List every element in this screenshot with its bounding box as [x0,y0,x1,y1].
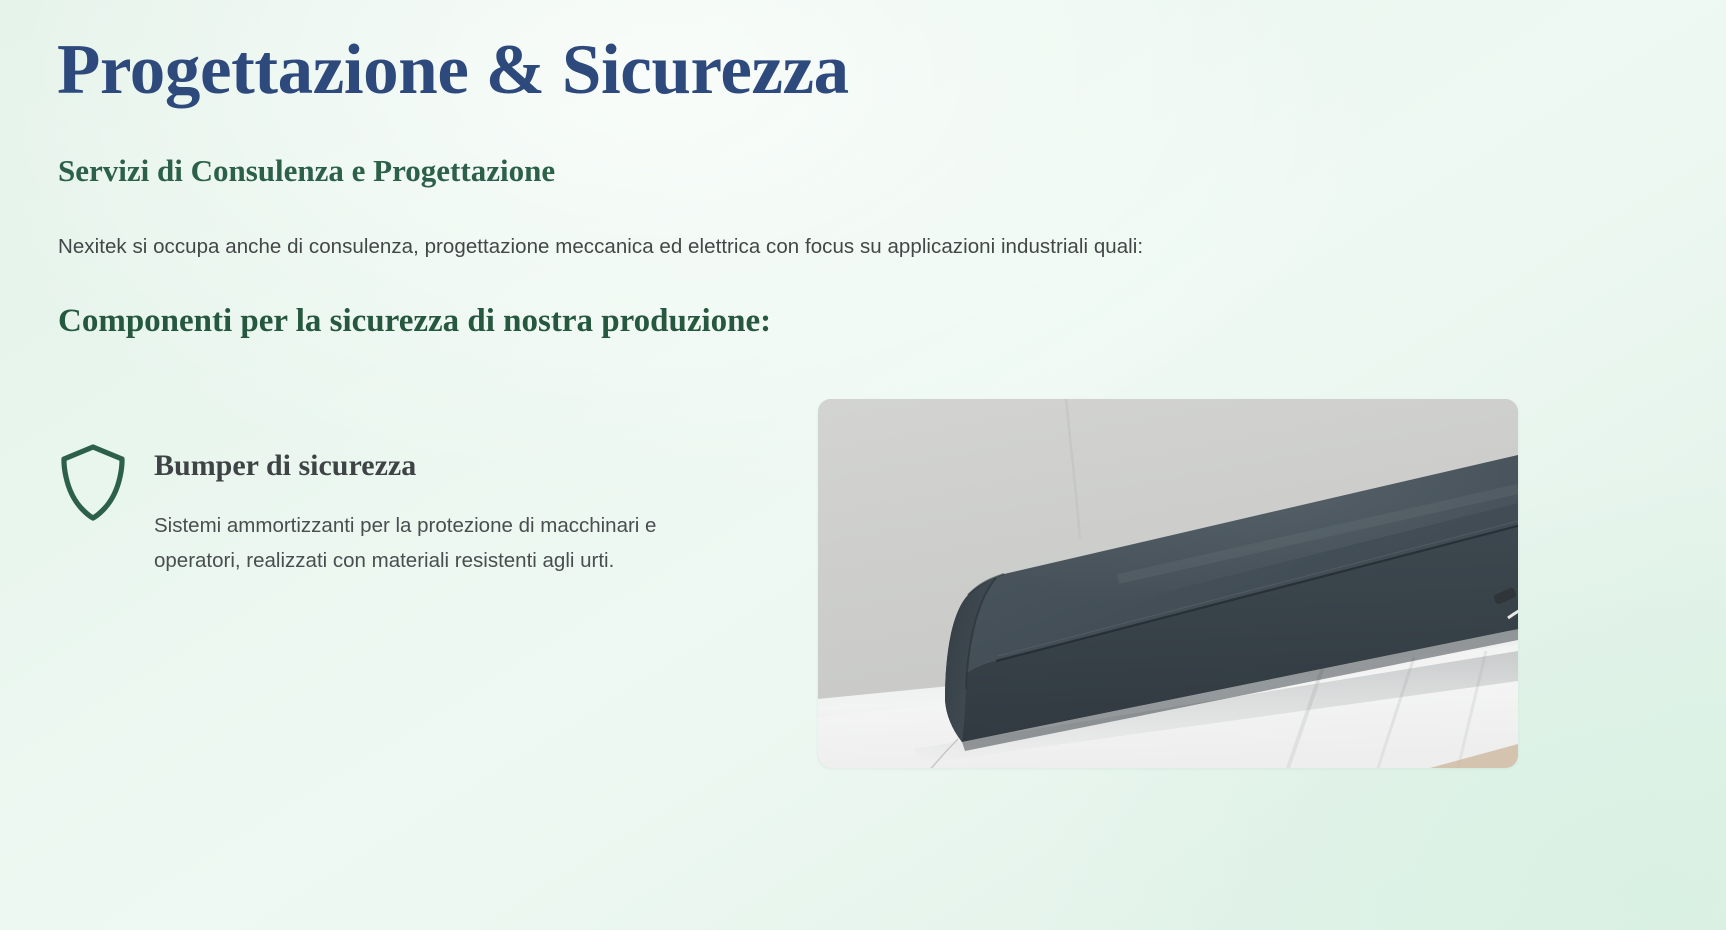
feature-text: Bumper di sicurezza Sistemi ammortizzant… [154,438,684,579]
safety-bumper-photo [818,399,1518,768]
components-heading: Componenti per la sicurezza di nostra pr… [58,302,771,342]
intro-paragraph: Nexitek si occupa anche di consulenza, p… [58,232,1143,263]
page-title: Progettazione & Sicurezza [57,34,849,108]
shield-icon [58,442,128,522]
page-root: Progettazione & Sicurezza Servizi di Con… [0,0,1726,930]
feature-bumper: Bumper di sicurezza Sistemi ammortizzant… [58,438,758,579]
feature-title: Bumper di sicurezza [154,448,684,484]
section-subtitle: Servizi di Consulenza e Progettazione [58,152,555,189]
feature-description: Sistemi ammortizzanti per la protezione … [154,508,684,579]
